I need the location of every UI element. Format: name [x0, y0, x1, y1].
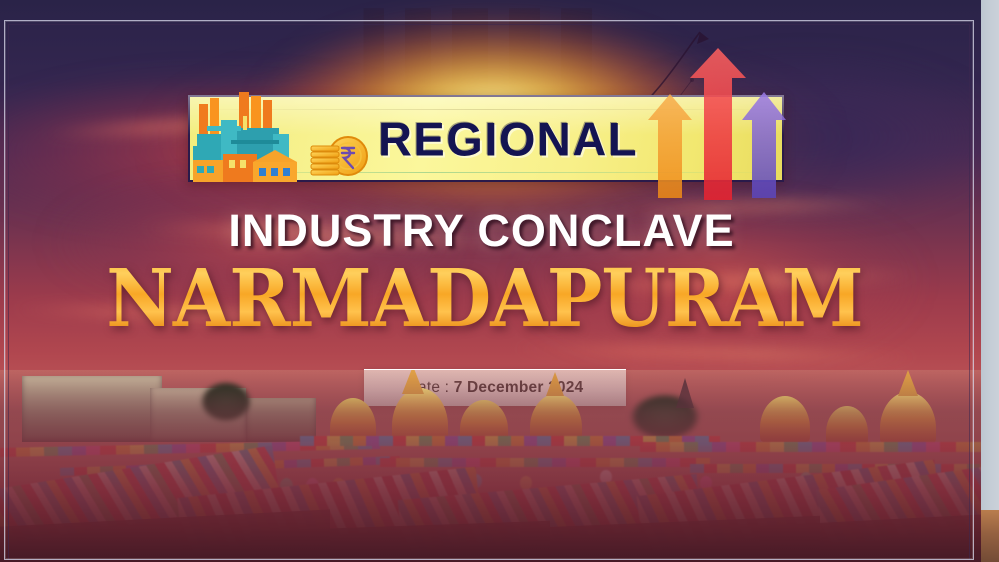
poster-root: REGIONAL	[0, 0, 999, 562]
poster-artboard: REGIONAL	[0, 0, 981, 562]
coin-stack-rupee-icon	[307, 128, 369, 184]
ghat-photo-band	[0, 370, 981, 562]
ghat-tint-overlay	[0, 370, 981, 562]
subtitle: INDUSTRY CONCLAVE	[0, 205, 981, 257]
corner-thumbnail	[981, 510, 999, 562]
city-name: NARMADAPURAM	[0, 259, 981, 339]
factory-icon	[193, 88, 313, 186]
growth-arrows-icon	[648, 48, 798, 203]
right-edge-strip	[981, 0, 999, 562]
